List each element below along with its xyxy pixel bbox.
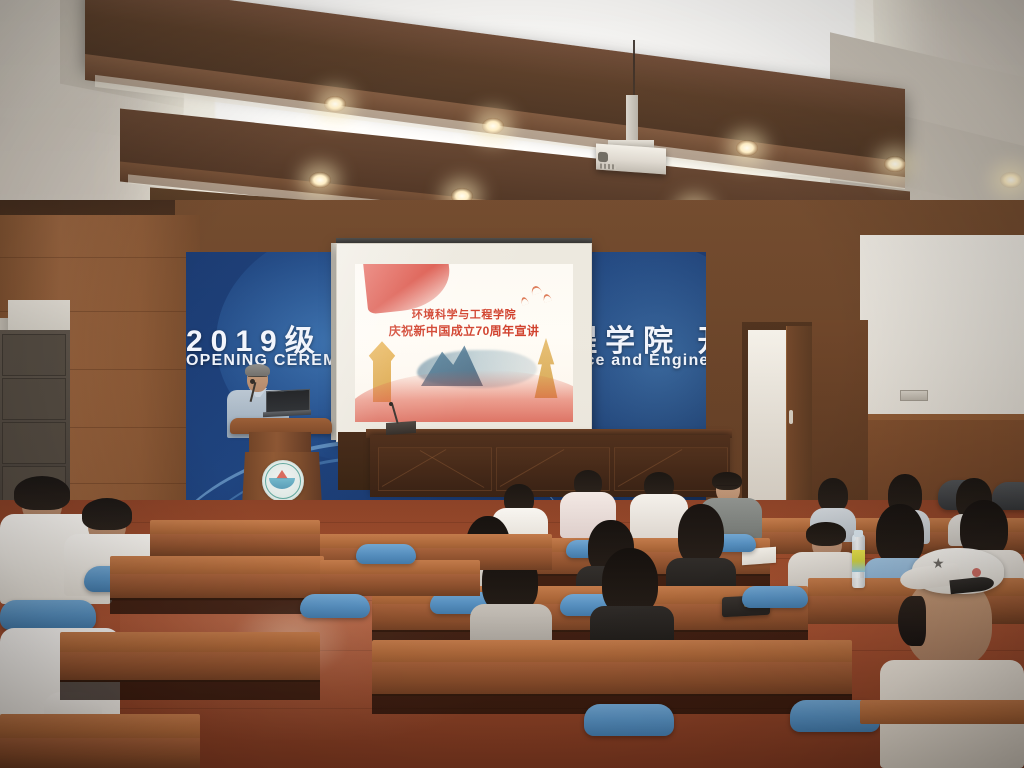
chair-back-mid[interactable] bbox=[300, 594, 370, 618]
chair-back-mid[interactable] bbox=[356, 544, 416, 564]
projector-lens bbox=[598, 152, 608, 163]
right-wall-upper bbox=[860, 235, 1024, 435]
desk-microphone-base bbox=[386, 421, 416, 435]
bird-icon bbox=[530, 285, 542, 296]
projector-vent bbox=[600, 163, 616, 169]
desk-mid-far-front bbox=[320, 574, 480, 596]
glasses-icon bbox=[716, 485, 738, 490]
desk-left-mid-shadow bbox=[110, 598, 324, 614]
water-bottle-label bbox=[852, 550, 865, 572]
desk-left-mid-top bbox=[110, 556, 324, 576]
desk-row-e-right-top bbox=[860, 700, 1024, 724]
desk-left-upper-front bbox=[150, 534, 320, 556]
chair-back-row-c[interactable] bbox=[742, 586, 808, 608]
downlight-icon bbox=[884, 156, 906, 172]
chair-back-left[interactable] bbox=[0, 600, 96, 630]
presentation-slide: 环境科学与工程学院 庆祝新中国成立70周年宣讲 bbox=[355, 264, 573, 422]
downlight-icon bbox=[736, 140, 758, 156]
stage-panel-section bbox=[378, 447, 492, 491]
star-icon: ★ bbox=[932, 556, 946, 570]
microphone-icon bbox=[250, 379, 255, 384]
slide-title-line-2: 庆祝新中国成立70周年宣讲 bbox=[355, 322, 573, 339]
hair bbox=[14, 476, 70, 510]
projector-mount-pole bbox=[626, 95, 638, 143]
desk-left-mid-front bbox=[110, 574, 324, 600]
desk-microphone-icon bbox=[389, 402, 393, 406]
stage-table-left-return bbox=[338, 432, 372, 490]
desk-left-front-front bbox=[60, 652, 320, 682]
desk-left-front-top bbox=[60, 632, 320, 654]
doorway-opening bbox=[748, 330, 788, 515]
slide-title-line-1: 环境科学与工程学院 bbox=[355, 306, 573, 322]
desk-row-d-top bbox=[372, 640, 852, 664]
desk-left-nearest-front bbox=[0, 738, 200, 768]
downlight-icon bbox=[309, 172, 331, 188]
door-handle[interactable] bbox=[789, 410, 793, 424]
desk-left-front-shadow bbox=[60, 680, 320, 700]
projection-screen: 环境科学与工程学院 庆祝新中国成立70周年宣讲 bbox=[336, 243, 592, 442]
desk-row-d-front bbox=[372, 662, 852, 696]
downlight-icon bbox=[1000, 172, 1022, 188]
desk-left-nearest-top bbox=[0, 714, 200, 740]
chair-back-row-d[interactable] bbox=[584, 704, 674, 736]
downlight-icon bbox=[324, 96, 346, 112]
bird-icon bbox=[520, 296, 529, 306]
water-bottle-cap[interactable] bbox=[854, 530, 863, 537]
power-outlet-icon bbox=[900, 390, 928, 401]
cap-logo-icon bbox=[972, 568, 981, 577]
hair bbox=[82, 498, 132, 530]
downlight-icon bbox=[482, 118, 504, 134]
lecture-hall-photo: 2019级 环境科学与工程学院 开学典礼 OPENING CEREMONY of… bbox=[0, 0, 1024, 768]
bird-icon bbox=[542, 293, 552, 303]
cap-wearer-hair bbox=[898, 596, 926, 646]
